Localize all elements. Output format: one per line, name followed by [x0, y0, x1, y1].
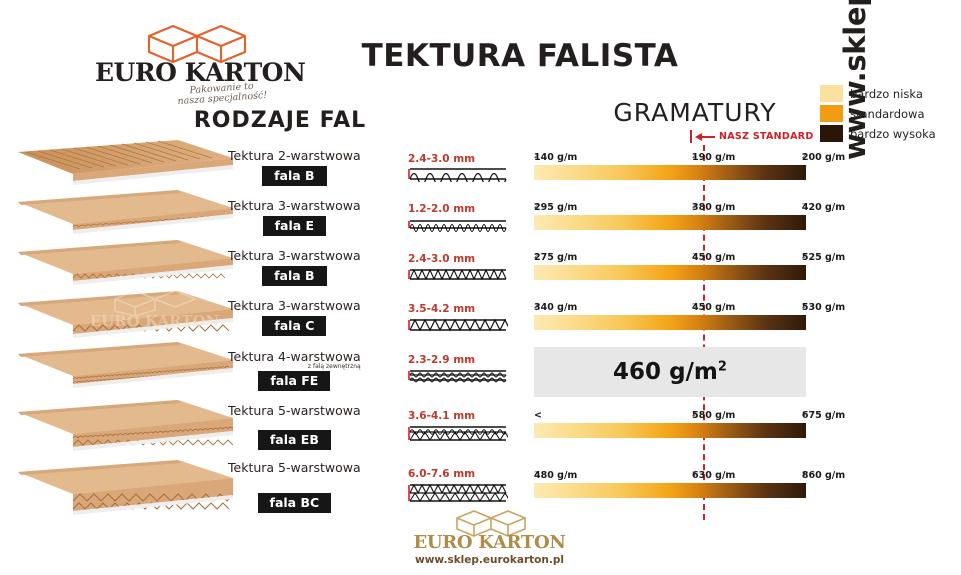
grammage-gradient-bar	[534, 215, 806, 230]
flute-profile-bc-icon	[408, 481, 508, 503]
board-title: Tektura 3-warstwowa	[228, 248, 361, 263]
thickness-block: 2.3-2.9 mm	[408, 354, 508, 388]
thickness-block: 1.2-2.0 mm	[408, 203, 508, 237]
grammage-min: 275 g/m2	[534, 252, 538, 265]
grammage-block: 480 g/m2 630 g/m2 860 g/m2	[534, 470, 806, 498]
thickness-label: 3.5-4.2 mm	[408, 303, 508, 315]
grammage-block: < 580 g/m2 675 g/m2	[534, 410, 806, 438]
grammage-standard: 380 g/m2	[692, 202, 696, 215]
grammage-gradient-bar	[534, 165, 806, 180]
arrow-left-icon	[695, 133, 702, 141]
section-heading-gramatury: GRAMATURY	[570, 98, 820, 127]
grammage-labels: 295 g/m2 380 g/m2 420 g/m2	[534, 202, 806, 215]
grammage-block: 275 g/m2 450 g/m2 525 g/m2	[534, 252, 806, 280]
board-text: Tektura 5-warstwowa fala EB	[228, 403, 361, 450]
board-title: Tektura 5-warstwowa	[228, 460, 361, 475]
board-text: Tektura 3-warstwowa fala C	[228, 298, 361, 336]
thickness-block: 3.6-4.1 mm	[408, 410, 508, 448]
standard-marker: NASZ STANDARD	[690, 130, 814, 143]
fala-badge: fala B	[262, 266, 326, 286]
grammage-block: 295 g/m2 380 g/m2 420 g/m2	[534, 202, 806, 230]
grammage-standard: 450 g/m2	[692, 252, 696, 265]
grammage-block: 340 g/m2 450 g/m2 530 g/m2	[534, 302, 806, 330]
grammage-max: 200 g/m2	[802, 152, 806, 165]
board-text: Tektura 5-warstwowa fala BC	[228, 460, 361, 513]
grammage-labels: 480 g/m2 630 g/m2 860 g/m2	[534, 470, 806, 483]
grammage-gradient-bar	[534, 423, 806, 438]
grammage-block: 140 g/m2 190 g/m2 200 g/m2	[534, 152, 806, 180]
board-title: Tektura 3-warstwowa	[228, 298, 361, 313]
fala-badge: fala FE	[258, 371, 330, 391]
page-title: TEKTURA FALISTA	[345, 38, 695, 74]
thickness-block: 2.4-3.0 mm	[408, 253, 508, 287]
thickness-label: 2.4-3.0 mm	[408, 153, 508, 165]
grammage-min: 140 g/m2	[534, 152, 538, 165]
board-illustration	[18, 400, 233, 454]
grammage-standard: 190 g/m2	[692, 152, 696, 165]
fala-badge: fala C	[262, 316, 326, 336]
flute-profile-b-icon	[408, 166, 508, 182]
footer-logo: EURO KARTON www.sklep.eurokarton.pl	[412, 508, 567, 570]
thickness-label: 6.0-7.6 mm	[408, 468, 508, 480]
header-logo: EURO KARTON Pakowanie to nasza specjalno…	[95, 22, 300, 102]
flute-profile-fe-icon	[408, 367, 508, 383]
thickness-block: 2.4-3.0 mm	[408, 153, 508, 187]
grammage-labels: 340 g/m2 450 g/m2 530 g/m2	[534, 302, 806, 315]
standard-marker-label: NASZ STANDARD	[719, 131, 814, 142]
board-title: Tektura 4-warstwowa	[228, 349, 361, 364]
fala-badge: fala B	[262, 166, 326, 186]
flute-profile-c-icon	[408, 316, 508, 333]
grammage-min: <	[534, 410, 542, 421]
arrow-shaft-icon	[702, 136, 715, 138]
grammage-standard: 450 g/m2	[692, 302, 696, 315]
board-title: Tektura 2-warstwowa	[228, 148, 361, 163]
board-illustration	[18, 140, 233, 188]
footer-logo-wordmark: EURO KARTON	[412, 532, 567, 553]
section-heading-rodzaje-fal: RODZAJE FAL	[150, 108, 410, 133]
grammage-max: 860 g/m2	[802, 470, 806, 483]
flute-profile-eb-icon	[408, 423, 508, 443]
fala-badge: fala EB	[258, 430, 331, 450]
thickness-label: 2.4-3.0 mm	[408, 253, 508, 265]
grammage-fixed-box: 460 g/m2	[534, 347, 806, 397]
grammage-gradient-bar	[534, 483, 806, 498]
grammage-min: 480 g/m2	[534, 470, 538, 483]
flute-profile-e-icon	[408, 216, 508, 232]
board-subtitle: z falą zewnętrzną	[228, 363, 361, 370]
thickness-label: 1.2-2.0 mm	[408, 203, 508, 215]
fala-badge: fala E	[263, 216, 326, 236]
thickness-label: 2.3-2.9 mm	[408, 354, 508, 366]
board-text: Tektura 3-warstwowa fala E	[228, 198, 361, 236]
thickness-block: 6.0-7.6 mm	[408, 468, 508, 508]
board-illustration	[18, 291, 233, 341]
board-illustration	[18, 190, 233, 238]
grammage-max: 530 g/m2	[802, 302, 806, 315]
grammage-fixed-value: 460 g/m2	[613, 359, 727, 385]
board-title: Tektura 5-warstwowa	[228, 403, 361, 418]
flute-profile-b-icon	[408, 266, 508, 282]
grammage-min: 340 g/m2	[534, 302, 538, 315]
grammage-labels: 140 g/m2 190 g/m2 200 g/m2	[534, 152, 806, 165]
grammage-labels: 275 g/m2 450 g/m2 525 g/m2	[534, 252, 806, 265]
grammage-block: 460 g/m2	[534, 347, 806, 397]
board-illustration	[18, 460, 233, 518]
grammage-min: 295 g/m2	[534, 202, 538, 215]
website-url-vertical[interactable]: www.sklep.eurokarton.pl	[838, 0, 878, 160]
thickness-label: 3.6-4.1 mm	[408, 410, 508, 422]
grammage-standard: 630 g/m2	[692, 470, 696, 483]
grammage-gradient-bar	[534, 265, 806, 280]
board-text: Tektura 3-warstwowa fala B	[228, 248, 361, 286]
grammage-max: 675 g/m2	[802, 410, 806, 423]
board-illustration	[18, 342, 233, 392]
grammage-max: 420 g/m2	[802, 202, 806, 215]
fala-badge: fala BC	[258, 493, 332, 513]
board-title: Tektura 3-warstwowa	[228, 198, 361, 213]
board-text: Tektura 4-warstwowa z falą zewnętrzną fa…	[228, 349, 361, 391]
board-text: Tektura 2-warstwowa fala B	[228, 148, 361, 186]
standard-marker-tick-icon	[690, 130, 692, 143]
footer-url[interactable]: www.sklep.eurokarton.pl	[412, 554, 567, 566]
grammage-max: 525 g/m2	[802, 252, 806, 265]
thickness-block: 3.5-4.2 mm	[408, 303, 508, 338]
grammage-labels: < 580 g/m2 675 g/m2	[534, 410, 806, 423]
board-illustration	[18, 240, 233, 288]
grammage-gradient-bar	[534, 315, 806, 330]
grammage-standard: 580 g/m2	[692, 410, 696, 423]
